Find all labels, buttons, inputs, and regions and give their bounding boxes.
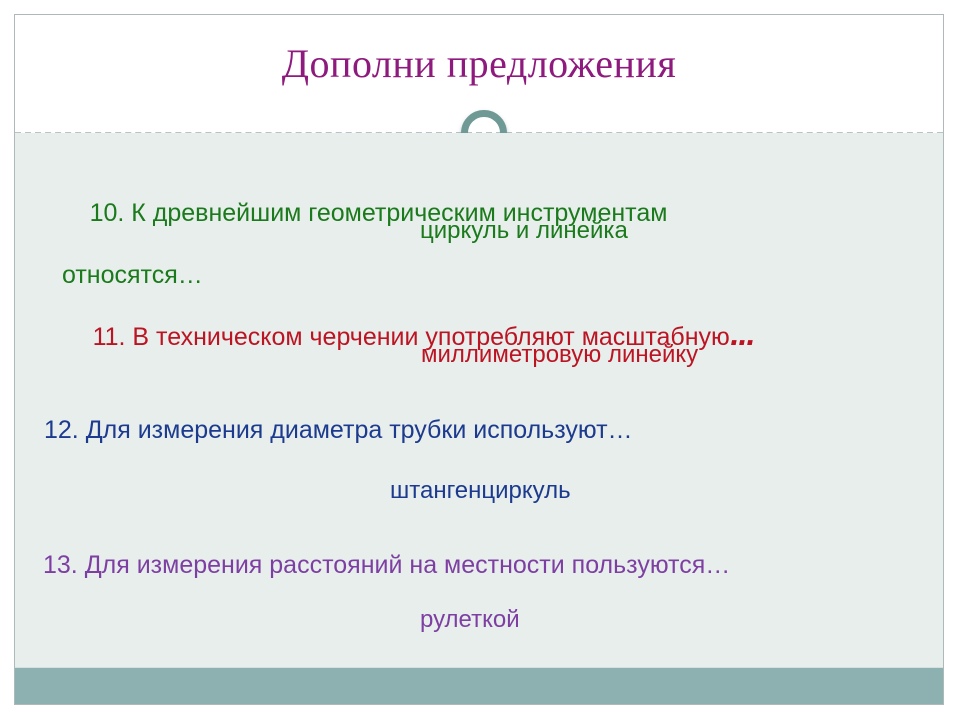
question-ellipsis-11: … (730, 322, 757, 352)
slide-canvas: Дополни предложения 10. К древнейшим гео… (14, 14, 944, 705)
question-text-13: 13. Для измерения расстояний на местност… (43, 550, 730, 581)
slide-content: 10. К древнейшим геометрическим инструме… (15, 133, 943, 668)
answer-text-12: штангенциркуль (390, 475, 571, 506)
question-text-11: 11. В техническом черчении употребляют м… (37, 291, 757, 384)
answer-text-13: рулеткой (420, 604, 520, 635)
question-line-2: относятся… (34, 260, 794, 291)
question-text-12: 12. Для измерения диаметра трубки исполь… (44, 415, 633, 446)
answer-text-10: циркуль и линейка (420, 215, 628, 246)
page-title: Дополни предложения (15, 41, 943, 87)
footer-accent-bar (15, 667, 943, 704)
answer-text-11: миллиметровую линейку (421, 339, 698, 370)
